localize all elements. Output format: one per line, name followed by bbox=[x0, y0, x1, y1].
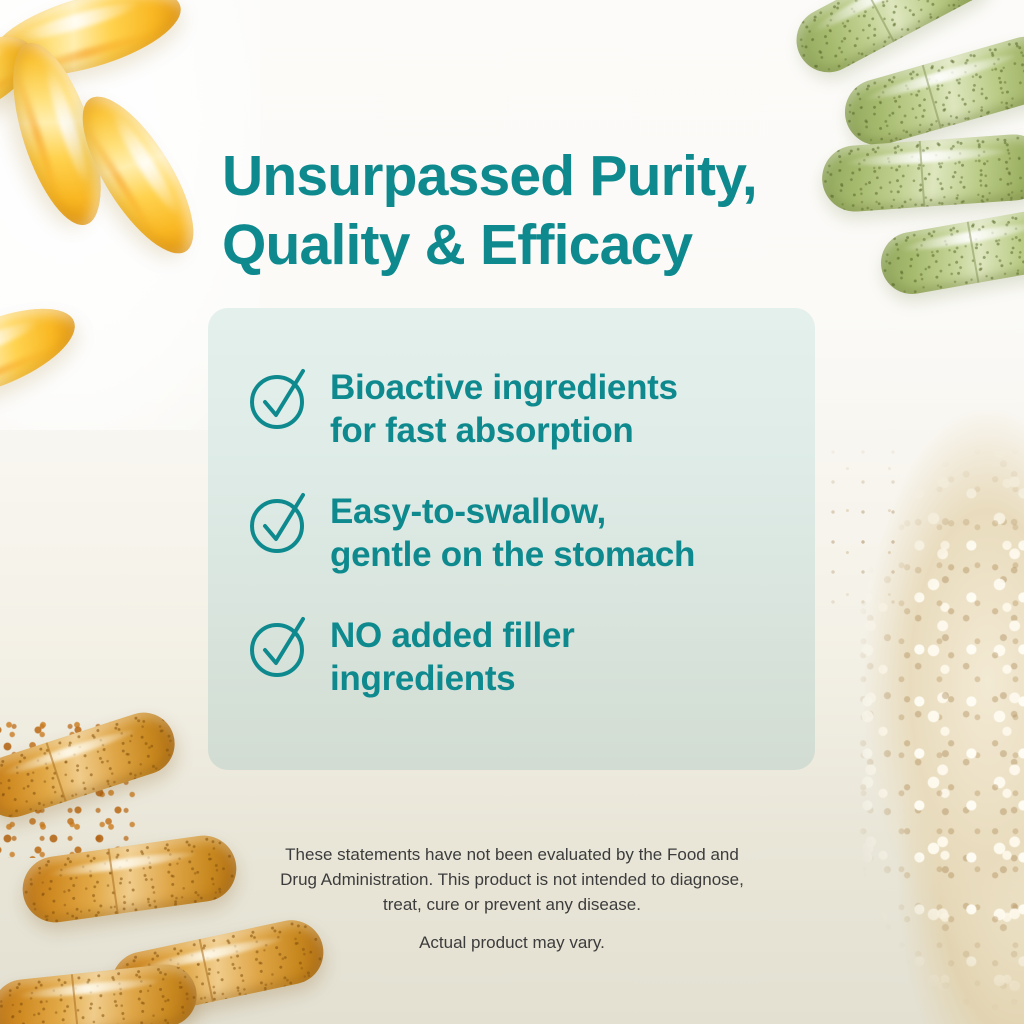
benefit-label: Bioactive ingredients for fast absorptio… bbox=[330, 362, 678, 452]
turmeric-capsule bbox=[18, 831, 240, 926]
headline-line-1: Unsurpassed Purity, bbox=[222, 142, 842, 211]
benefit-label: NO added filler ingredients bbox=[330, 610, 574, 700]
disclaimer-line-3: treat, cure or prevent any disease. bbox=[212, 892, 812, 917]
check-circle-icon bbox=[246, 612, 314, 680]
benefit-line-2: ingredients bbox=[330, 657, 574, 700]
benefit-item-no-fillers: NO added filler ingredients bbox=[246, 610, 775, 700]
benefit-line-1: NO added filler bbox=[330, 614, 574, 657]
turmeric-capsule bbox=[0, 705, 183, 826]
benefit-item-bioactive: Bioactive ingredients for fast absorptio… bbox=[246, 362, 775, 452]
benefits-card: Bioactive ingredients for fast absorptio… bbox=[208, 308, 815, 770]
benefit-line-1: Easy-to-swallow, bbox=[330, 490, 695, 533]
check-circle-icon bbox=[246, 488, 314, 556]
disclaimer-line-2: Drug Administration. This product is not… bbox=[212, 867, 812, 892]
softgel-capsule bbox=[0, 291, 86, 416]
green-capsule bbox=[876, 203, 1024, 299]
benefit-label: Easy-to-swallow, gentle on the stomach bbox=[330, 486, 695, 576]
check-circle-icon bbox=[246, 364, 314, 432]
green-capsule bbox=[820, 132, 1024, 214]
page-title: Unsurpassed Purity, Quality & Efficacy bbox=[222, 142, 842, 280]
benefit-line-2: gentle on the stomach bbox=[330, 533, 695, 576]
softgel-capsule bbox=[0, 33, 119, 235]
fda-disclaimer: These statements have not been evaluated… bbox=[212, 842, 812, 917]
softgel-capsule bbox=[0, 0, 190, 94]
promo-canvas: Unsurpassed Purity, Quality & Efficacy B… bbox=[0, 0, 1024, 1024]
benefit-item-easy-to-swallow: Easy-to-swallow, gentle on the stomach bbox=[246, 486, 775, 576]
disclaimer-line-1: These statements have not been evaluated… bbox=[212, 842, 812, 867]
green-capsule bbox=[785, 0, 1000, 84]
green-capsule bbox=[837, 29, 1024, 153]
softgel-capsule bbox=[62, 81, 213, 269]
actual-product-note: Actual product may vary. bbox=[212, 930, 812, 955]
softgel-capsule bbox=[0, 20, 46, 131]
headline-line-2: Quality & Efficacy bbox=[222, 211, 842, 280]
benefit-line-1: Bioactive ingredients bbox=[330, 366, 678, 409]
turmeric-powder-spill bbox=[0, 718, 140, 858]
benefit-line-2: for fast absorption bbox=[330, 409, 678, 452]
turmeric-capsule bbox=[0, 961, 200, 1024]
